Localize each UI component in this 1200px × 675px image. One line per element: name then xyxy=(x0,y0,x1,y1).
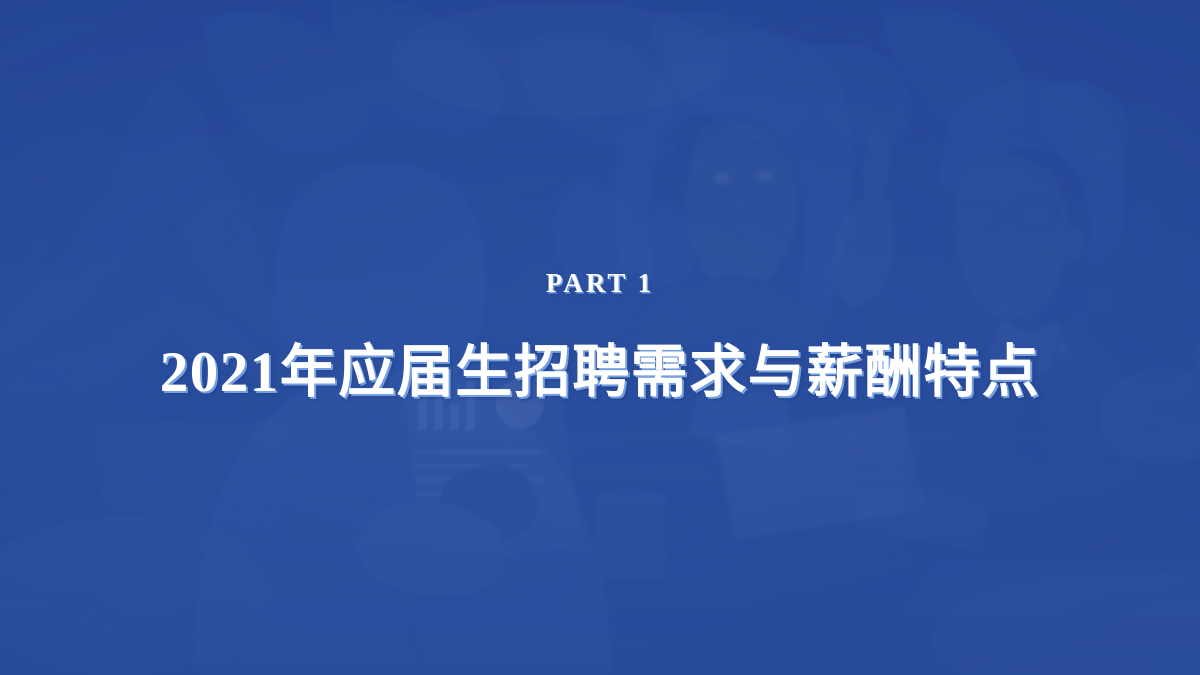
section-divider-slide: PART 1 2021年应届生招聘需求与薪酬特点 xyxy=(0,0,1200,675)
slide-content: PART 1 2021年应届生招聘需求与薪酬特点 xyxy=(0,0,1200,675)
section-eyebrow: PART 1 xyxy=(546,270,654,297)
page-title: 2021年应届生招聘需求与薪酬特点 xyxy=(160,341,1041,405)
